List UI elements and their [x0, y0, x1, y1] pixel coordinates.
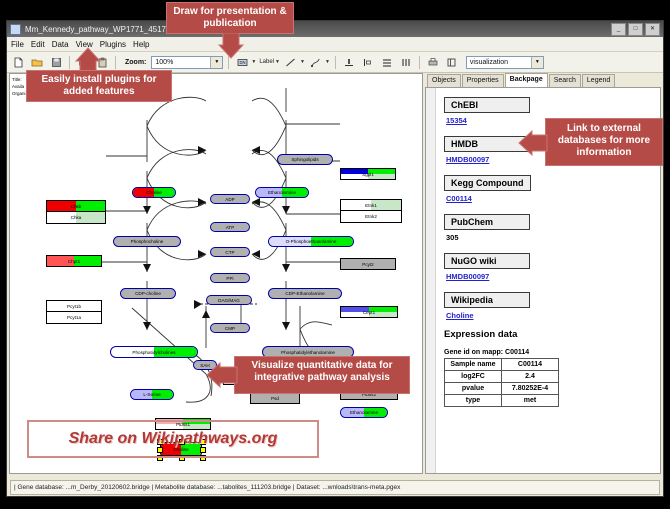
- line-icon[interactable]: [283, 54, 299, 70]
- label-tool[interactable]: Label ▼: [259, 59, 280, 65]
- section-header-nugo: NuGO wiki: [444, 253, 530, 269]
- expression-data-title: Expression data: [444, 329, 652, 340]
- visualization-combobox[interactable]: visualization ▼: [466, 56, 544, 69]
- toolbar-separator: [115, 56, 116, 69]
- expression-table: Sample name C00114 log2FC 2.4 pvalue 7.8…: [444, 358, 559, 407]
- gene-pcyt1a[interactable]: Pcyt1a: [47, 312, 101, 323]
- window-controls: _ □ ✕: [611, 23, 660, 36]
- node-dag-mag[interactable]: DAG/MAG: [206, 295, 252, 305]
- table-row: log2FC 2.4: [445, 371, 559, 383]
- cell-value: met: [502, 395, 559, 407]
- node-phosphocholine[interactable]: Phosphocholine: [113, 236, 181, 247]
- cell-key: log2FC: [445, 371, 502, 383]
- visualization-value: visualization: [470, 59, 508, 66]
- link-wikipedia[interactable]: Choline: [446, 311, 652, 320]
- link-nugo[interactable]: HMDB00097: [446, 272, 652, 281]
- new-file-icon[interactable]: [10, 54, 26, 70]
- panel-left-gutter[interactable]: [426, 88, 436, 473]
- tab-properties[interactable]: Properties: [462, 74, 504, 87]
- zoom-combobox[interactable]: 100% ▼: [151, 56, 223, 69]
- callout-links-pointer: [518, 130, 548, 156]
- gene-sgpl1[interactable]: Sgpl1: [340, 168, 396, 180]
- menu-item-help[interactable]: Help: [133, 40, 149, 49]
- section-header-pubchem: PubChem: [444, 214, 530, 230]
- callout-share-text: Share on Wikipathways.org: [69, 430, 278, 448]
- label-tool-label: Label: [259, 59, 274, 65]
- chevron-down-icon[interactable]: ▼: [531, 57, 543, 68]
- callout-draw: Draw for presentation & publication: [166, 2, 294, 34]
- toolbar-separator: [335, 56, 336, 69]
- cell-value: C00114: [502, 359, 559, 371]
- align-top-icon[interactable]: [341, 54, 357, 70]
- node-adp[interactable]: ADP: [210, 194, 250, 204]
- close-button[interactable]: ✕: [645, 23, 660, 36]
- tab-search[interactable]: Search: [549, 74, 581, 87]
- value-pubchem: 305: [446, 233, 652, 242]
- gene-chka[interactable]: Chka: [47, 212, 105, 223]
- section-header-wikipedia: Wikipedia: [444, 292, 530, 308]
- cell-key: type: [445, 395, 502, 407]
- menu-bar: File Edit Data View Plugins Help: [7, 37, 663, 52]
- align-left-icon[interactable]: [360, 54, 376, 70]
- callout-visualize: Visualize quantitative data for integrat…: [234, 356, 410, 394]
- node-cmp[interactable]: CMP: [210, 323, 250, 333]
- chevron-down-icon[interactable]: ▼: [300, 59, 305, 65]
- interaction-tool[interactable]: ▼: [308, 54, 330, 70]
- node-atp[interactable]: ATP: [210, 222, 250, 232]
- title-bar: Mm_Kennedy_pathway_WP1771_45176.gpml _ □…: [7, 21, 663, 37]
- gene-etnk1[interactable]: Etnk1: [341, 200, 401, 211]
- app-icon: [10, 24, 21, 35]
- section-header-kegg: Kegg Compound: [444, 175, 531, 191]
- save-icon[interactable]: [48, 54, 64, 70]
- zoom-value: 100%: [155, 59, 173, 66]
- gene-etnk2[interactable]: Etnk2: [341, 211, 401, 222]
- cell-key: pvalue: [445, 383, 502, 395]
- node-choline[interactable]: Choline: [132, 187, 176, 198]
- toolbar-separator: [69, 56, 70, 69]
- gene-chpt1[interactable]: Chpt1: [46, 255, 102, 267]
- side-panel-tabs: Objects Properties Backpage Search Legen…: [425, 73, 661, 87]
- node-ppi[interactable]: PPi: [210, 273, 250, 283]
- genebox-chk[interactable]: Chkb Chka: [46, 200, 106, 224]
- node-o-phosphoethanolamine[interactable]: O-Phosphoethanolamine: [268, 236, 354, 247]
- cell-value: 2.4: [502, 371, 559, 383]
- gene-pcyt1b[interactable]: Pcyt1b: [47, 301, 101, 312]
- gene-cept1[interactable]: Cept1: [340, 306, 398, 318]
- callout-links: Link to external databases for more info…: [545, 118, 663, 166]
- menu-item-data[interactable]: Data: [52, 40, 69, 49]
- svg-text:DN: DN: [239, 60, 245, 65]
- menu-item-edit[interactable]: Edit: [31, 40, 45, 49]
- table-row: pvalue 7.80252E-4: [445, 383, 559, 395]
- tab-objects[interactable]: Objects: [427, 74, 461, 87]
- status-bar: | Gene database: ...m_Derby_20120602.bri…: [7, 478, 663, 496]
- genebox-etnk[interactable]: Etnk1 Etnk2: [340, 199, 402, 223]
- callout-draw-pointer: [218, 33, 244, 59]
- zoom-label: Zoom:: [125, 59, 146, 66]
- node-ethanolamine[interactable]: Ethanolamine: [255, 187, 309, 198]
- sidebar-toggle-icon[interactable]: [444, 54, 460, 70]
- cell-value: 7.80252E-4: [502, 383, 559, 395]
- maximize-button[interactable]: □: [628, 23, 643, 36]
- callout-plugins: Easily install plugins for added feature…: [26, 70, 172, 102]
- node-l-serine-left[interactable]: L-Serine: [130, 389, 174, 400]
- cell-key: Sample name: [445, 359, 502, 371]
- node-ctp[interactable]: CTP: [210, 247, 250, 257]
- status-text: | Gene database: ...m_Derby_20120602.bri…: [10, 480, 660, 495]
- interaction-icon[interactable]: [308, 54, 324, 70]
- chevron-down-icon[interactable]: ▼: [251, 59, 256, 65]
- open-folder-icon[interactable]: [29, 54, 45, 70]
- node-sphingolipids[interactable]: Sphingolipids: [277, 154, 333, 165]
- node-cdp-choline[interactable]: CDP-choline: [120, 288, 176, 299]
- tab-backpage[interactable]: Backpage: [505, 73, 548, 87]
- distribute-horizontal-icon[interactable]: [398, 54, 414, 70]
- pathway-canvas[interactable]: Title: Availa Organi: [9, 73, 423, 474]
- callout-visualize-pointer: [206, 362, 238, 388]
- gene-chkb[interactable]: Chkb: [47, 201, 105, 212]
- section-header-chebi: ChEBI: [444, 97, 530, 113]
- node-ethanolamine-bottom[interactable]: Ethanolamine: [340, 407, 388, 418]
- menu-item-plugins[interactable]: Plugins: [100, 40, 126, 49]
- chevron-down-icon[interactable]: ▼: [275, 59, 280, 65]
- chevron-down-icon[interactable]: ▼: [325, 59, 330, 65]
- callout-share: Share on Wikipathways.org: [27, 420, 319, 458]
- distribute-vertical-icon[interactable]: [379, 54, 395, 70]
- print-icon[interactable]: [425, 54, 441, 70]
- link-kegg[interactable]: C00114: [446, 194, 652, 203]
- minimize-button[interactable]: _: [611, 23, 626, 36]
- node-phosphatidylcholines[interactable]: Phosphatidylcholines: [110, 346, 198, 358]
- line-tool[interactable]: ▼: [283, 54, 305, 70]
- gene-pcyt2[interactable]: Pcyt2: [340, 258, 396, 270]
- toolbar-separator: [419, 56, 420, 69]
- node-cdp-ethanolamine[interactable]: CDP-Ethanolamine: [268, 288, 342, 299]
- table-row: Sample name C00114: [445, 359, 559, 371]
- menu-item-file[interactable]: File: [11, 40, 24, 49]
- tab-legend[interactable]: Legend: [582, 74, 615, 87]
- genebox-pcyt1[interactable]: Pcyt1b Pcyt1a: [46, 300, 102, 324]
- pathway-drawing[interactable]: Title: Availa Organi: [10, 74, 422, 473]
- gene-id-label: Gene id on mapp: C00114: [444, 349, 652, 356]
- table-row: type met: [445, 395, 559, 407]
